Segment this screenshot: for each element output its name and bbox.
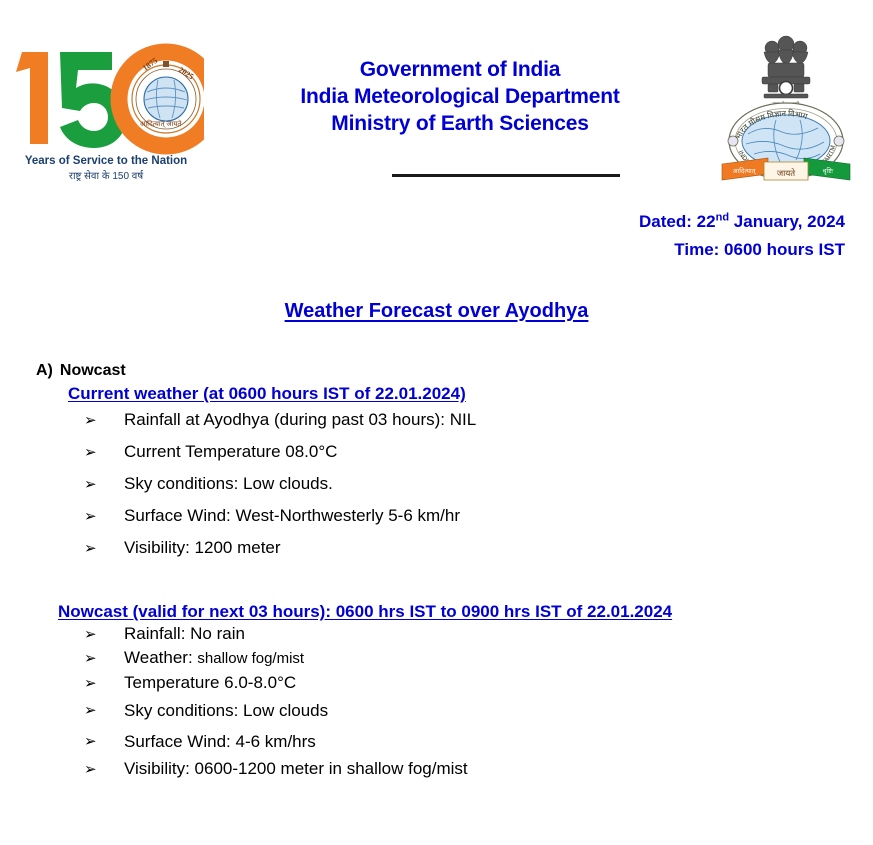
logo-tagline-hi: राष्ट्र सेवा के 150 वर्ष xyxy=(69,170,144,182)
list-item-text: Temperature 6.0-8.0°C xyxy=(124,673,296,692)
org-line-3: Ministry of Earth Sciences xyxy=(250,110,670,137)
list-item-text: Sky conditions: Low clouds xyxy=(124,701,328,720)
bullet-arrow-icon: ➢ xyxy=(84,622,97,646)
bullet-arrow-icon: ➢ xyxy=(84,500,97,532)
org-line-1: Government of India xyxy=(250,56,670,83)
svg-text:आदित्यात्: आदित्यात् xyxy=(733,167,757,175)
india-meteorological-department-emblem: सत्यमेव जयते भारत मौसम विज्ञान विभाग xyxy=(706,28,866,193)
dateline-time: Time: 0600 hours IST xyxy=(639,236,845,264)
document-body: A)Nowcast Current weather (at 0600 hours… xyxy=(0,360,873,781)
bullet-arrow-icon: ➢ xyxy=(84,757,97,781)
bullet-arrow-icon: ➢ xyxy=(84,436,97,468)
list-item-text: Current Temperature 08.0°C xyxy=(124,442,337,461)
header-divider-rule xyxy=(392,174,620,177)
dateline-date: Dated: 22nd January, 2024 xyxy=(639,208,845,236)
list-item: ➢ Rainfall at Ayodhya (during past 03 ho… xyxy=(84,404,873,436)
section-a-marker: A) xyxy=(36,362,53,379)
dateline-day-suffix: nd xyxy=(716,211,729,223)
list-item-text: Surface Wind: 4-6 km/hrs xyxy=(124,732,316,751)
svg-text:वृष्टिः: वृष्टिः xyxy=(823,167,834,175)
section-spacer xyxy=(0,564,873,602)
list-item-text: Rainfall: No rain xyxy=(124,624,245,643)
bullet-arrow-icon: ➢ xyxy=(84,404,97,436)
svg-text:आदित्यात् जायते: आदित्यात् जायते xyxy=(140,119,182,128)
dateline-month-year: January, 2024 xyxy=(734,212,845,231)
section-a-label: Nowcast xyxy=(60,362,126,379)
list-item-value: shallow fog/mist xyxy=(197,650,304,667)
list-item: ➢ Sky conditions: Low clouds xyxy=(84,695,873,726)
list-item: ➢ Weather: shallow fog/mist xyxy=(84,646,873,671)
nowcast-validity-bullet-list: ➢ Rainfall: No rain ➢ Weather: shallow f… xyxy=(0,622,873,781)
list-item: ➢ Rainfall: No rain xyxy=(84,622,873,646)
list-item-text: Visibility: 0600-1200 meter in shallow f… xyxy=(124,759,468,778)
current-weather-subheading-text: Current weather (at 0600 hours IST of 22… xyxy=(68,384,466,403)
page-title: Weather Forecast over Ayodhya xyxy=(0,300,873,323)
page-title-text: Weather Forecast over Ayodhya xyxy=(285,300,589,322)
nowcast-validity-heading: Nowcast (valid for next 03 hours): 0600 … xyxy=(58,602,873,622)
dateline-block: Dated: 22nd January, 2024 Time: 0600 hou… xyxy=(639,208,845,264)
document-header: 1875 2025 आदित्यात् जायते Years of Servi… xyxy=(0,0,873,200)
current-weather-subheading: Current weather (at 0600 hours IST of 22… xyxy=(68,384,873,404)
list-item-text: Sky conditions: Low clouds. xyxy=(124,474,333,493)
bullet-arrow-icon: ➢ xyxy=(84,468,97,500)
organisation-heading: Government of India India Meteorological… xyxy=(250,56,670,137)
nowcast-validity-heading-text: Nowcast (valid for next 03 hours): 0600 … xyxy=(58,602,672,621)
150-years-logo: 1875 2025 आदित्यात् जायते Years of Servi… xyxy=(8,26,204,186)
emblem-ribbon-text: जायते xyxy=(777,168,795,178)
list-item-text: Visibility: 1200 meter xyxy=(124,538,281,557)
logo-tagline-en: Years of Service to the Nation xyxy=(25,155,187,167)
list-item: ➢ Current Temperature 08.0°C xyxy=(84,436,873,468)
list-item: ➢ Surface Wind: West-Northwesterly 5-6 k… xyxy=(84,500,873,532)
list-item: ➢ Surface Wind: 4-6 km/hrs xyxy=(84,726,873,757)
section-a-heading: A)Nowcast xyxy=(36,360,873,382)
bullet-arrow-icon: ➢ xyxy=(84,726,97,757)
list-item-text: Surface Wind: West-Northwesterly 5-6 km/… xyxy=(124,506,460,525)
current-weather-bullet-list: ➢ Rainfall at Ayodhya (during past 03 ho… xyxy=(0,404,873,564)
bullet-arrow-icon: ➢ xyxy=(84,646,97,670)
dated-label: Dated: xyxy=(639,212,692,231)
list-item: ➢ Visibility: 1200 meter xyxy=(84,532,873,564)
list-item: ➢ Visibility: 0600-1200 meter in shallow… xyxy=(84,757,873,781)
bullet-arrow-icon: ➢ xyxy=(84,671,97,695)
list-item-label: Weather: xyxy=(124,648,197,667)
list-item: ➢ Temperature 6.0-8.0°C xyxy=(84,671,873,695)
org-line-2: India Meteorological Department xyxy=(250,83,670,110)
bullet-arrow-icon: ➢ xyxy=(84,532,97,564)
dateline-day: 22 xyxy=(697,212,716,231)
list-item-text: Rainfall at Ayodhya (during past 03 hour… xyxy=(124,410,476,429)
bullet-arrow-icon: ➢ xyxy=(84,695,97,726)
list-item: ➢ Sky conditions: Low clouds. xyxy=(84,468,873,500)
imd-weather-forecast-document: { "header": { "org_lines": [ "Government… xyxy=(0,0,873,845)
